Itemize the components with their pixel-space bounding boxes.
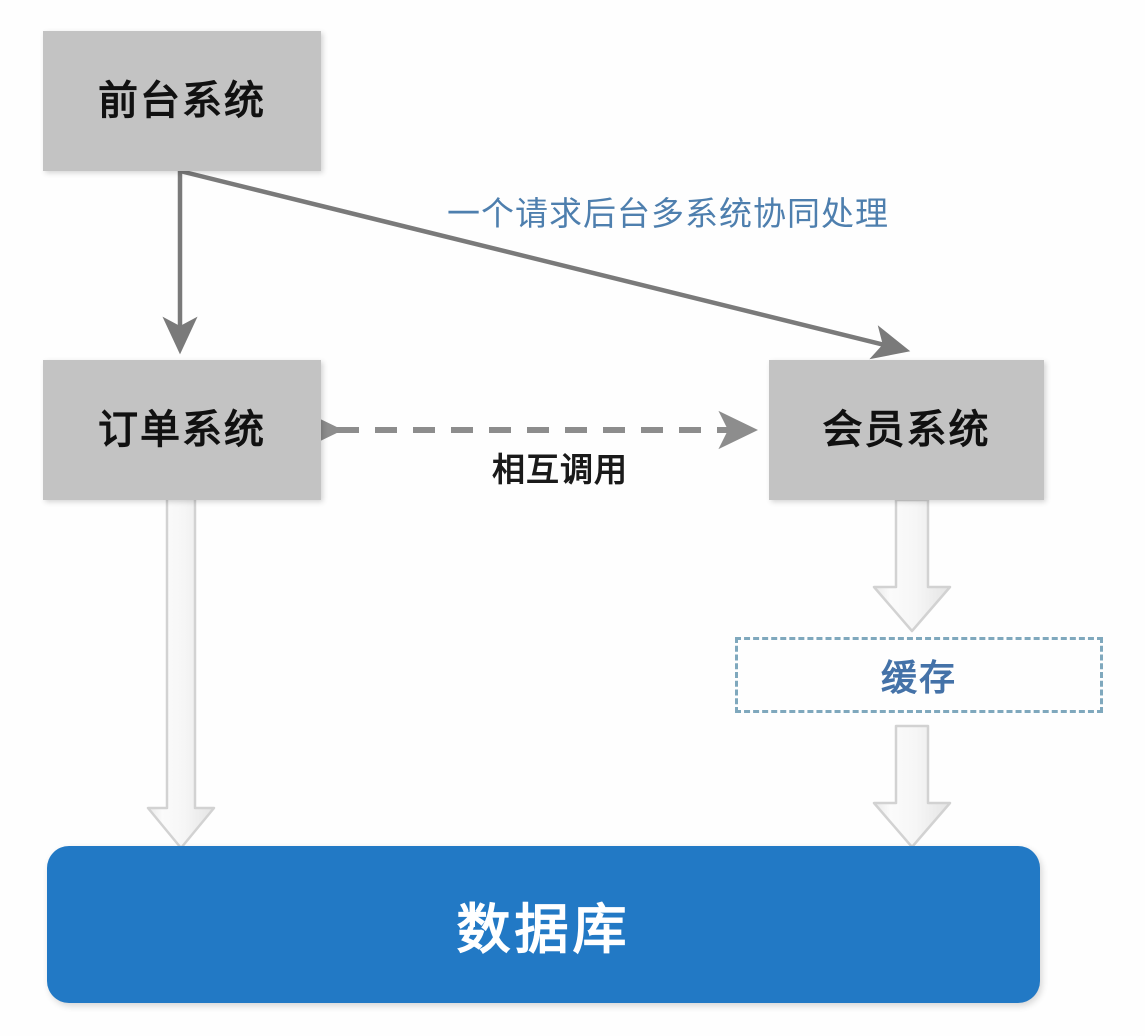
- connector-member-to-cache: [874, 500, 950, 631]
- annotation-mutual-invocation: 相互调用: [492, 443, 628, 491]
- diagram-canvas: 前台系统 订单系统 会员系统 缓存 数据库 一个请求后台多系统协同处理 相互调用: [0, 0, 1145, 1036]
- node-frontend-system[interactable]: 前台系统: [43, 31, 321, 171]
- connector-cache-to-database: [874, 726, 950, 847]
- annotation-cooperative-processing: 一个请求后台多系统协同处理: [447, 187, 889, 235]
- node-cache-label: 缓存: [881, 649, 957, 701]
- node-database-label: 数据库: [457, 885, 631, 964]
- node-member-system-label: 会员系统: [823, 410, 991, 450]
- node-member-system[interactable]: 会员系统: [769, 360, 1044, 500]
- node-database[interactable]: 数据库: [47, 846, 1040, 1003]
- node-cache[interactable]: 缓存: [735, 637, 1103, 713]
- node-order-system[interactable]: 订单系统: [43, 360, 321, 500]
- node-frontend-system-label: 前台系统: [98, 81, 266, 121]
- node-order-system-label: 订单系统: [98, 410, 266, 450]
- connector-order-to-database: [148, 498, 214, 848]
